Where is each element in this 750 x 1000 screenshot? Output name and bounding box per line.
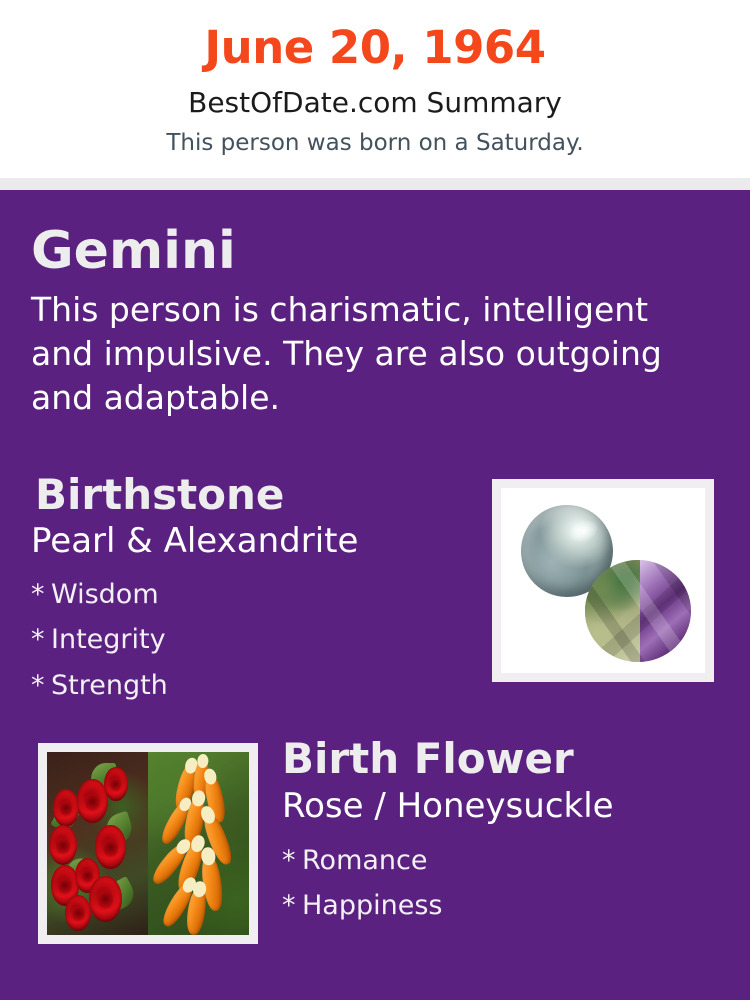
gem-facet-overlay xyxy=(585,560,691,662)
birthstone-photo xyxy=(501,488,705,673)
header-divider xyxy=(0,178,750,190)
list-item: *Happiness xyxy=(282,883,702,928)
site-name-subtitle: BestOfDate.com Summary xyxy=(0,87,750,119)
birth-flower-traits-list: *Romance *Happiness xyxy=(282,838,702,929)
rose-bloom xyxy=(77,779,107,823)
birthstone-heading: Birthstone xyxy=(35,473,284,517)
rose-bloom xyxy=(95,825,125,869)
bullet-star-icon: * xyxy=(31,572,51,617)
zodiac-sign-title: Gemini xyxy=(31,224,236,279)
list-item-label: Wisdom xyxy=(51,579,159,610)
birthstone-photo-frame xyxy=(492,479,714,682)
page-title-date: June 20, 1964 xyxy=(0,22,750,74)
zodiac-description: This person is charismatic, intelligent … xyxy=(31,288,703,420)
list-item: *Strength xyxy=(31,663,451,708)
bullet-star-icon: * xyxy=(282,883,302,928)
list-item-label: Happiness xyxy=(302,890,442,921)
birth-flower-heading: Birth Flower xyxy=(282,737,574,781)
birth-flower-photo-frame xyxy=(38,743,258,944)
birthstone-name: Pearl & Alexandrite xyxy=(31,523,358,560)
alexandrite-image xyxy=(585,560,691,662)
list-item-label: Strength xyxy=(51,670,168,701)
rose-bloom xyxy=(104,767,128,802)
header: June 20, 1964 BestOfDate.com Summary Thi… xyxy=(0,0,750,178)
list-item: *Wisdom xyxy=(31,572,451,617)
birthstone-traits-list: *Wisdom *Integrity *Strength xyxy=(31,572,451,708)
bullet-star-icon: * xyxy=(282,838,302,883)
list-item: *Integrity xyxy=(31,617,451,662)
birth-flower-photo xyxy=(47,752,249,935)
main-panel: Gemini This person is charismatic, intel… xyxy=(0,190,750,1000)
list-item-label: Romance xyxy=(302,845,427,876)
list-item: *Romance xyxy=(282,838,702,883)
honeysuckle-image xyxy=(148,752,249,935)
rose-bloom xyxy=(53,789,79,827)
rose-bloom xyxy=(89,876,121,922)
born-day-text: This person was born on a Saturday. xyxy=(0,130,750,156)
birth-flower-name: Rose / Honeysuckle xyxy=(282,788,614,825)
bullet-star-icon: * xyxy=(31,663,51,708)
date-summary-infographic: June 20, 1964 BestOfDate.com Summary Thi… xyxy=(0,0,750,1000)
rose-bloom xyxy=(65,895,91,932)
bullet-star-icon: * xyxy=(31,617,51,662)
list-item-label: Integrity xyxy=(51,624,166,655)
roses-image xyxy=(47,752,148,935)
